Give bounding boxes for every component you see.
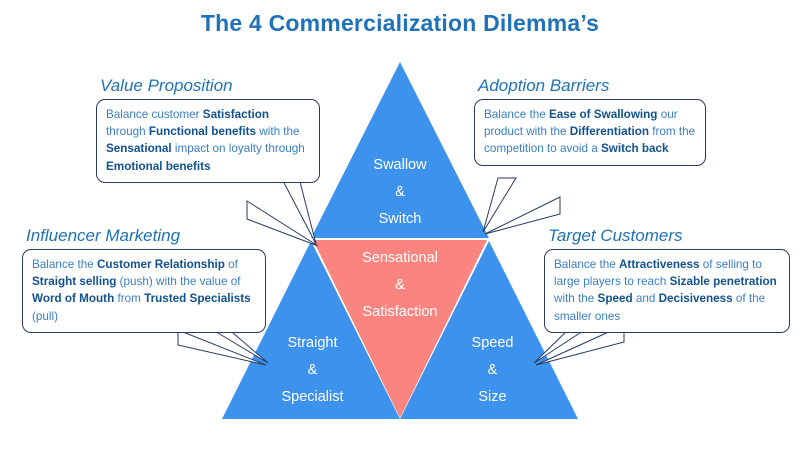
callout-body-adoption-barriers: Balance the Ease of Swallowing our produ… — [474, 99, 706, 166]
segment-top-swallow-switch[interactable] — [311, 62, 489, 238]
callout-body-value-proposition: Balance customer Satisfaction through Fu… — [96, 99, 320, 183]
callout-title-value-proposition: Value Proposition — [96, 76, 320, 96]
triangle-diagram — [0, 0, 800, 450]
callout-title-influencer-marketing: Influencer Marketing — [22, 226, 266, 246]
callout-target-customers[interactable]: Target Customers Balance the Attractiven… — [544, 226, 790, 333]
callout-adoption-barriers[interactable]: Adoption Barriers Balance the Ease of Sw… — [474, 76, 706, 166]
callout-title-target-customers: Target Customers — [544, 226, 790, 246]
callout-title-adoption-barriers: Adoption Barriers — [474, 76, 706, 96]
slide-canvas: The 4 Commercialization Dilemma’s Swallo… — [0, 0, 800, 450]
callout-influencer-marketing[interactable]: Influencer Marketing Balance the Custome… — [22, 226, 266, 333]
callout-body-target-customers: Balance the Attractiveness of selling to… — [544, 249, 790, 333]
callout-value-proposition[interactable]: Value Proposition Balance customer Satis… — [96, 76, 320, 183]
callout-body-influencer-marketing: Balance the Customer Relationship of Str… — [22, 249, 266, 333]
